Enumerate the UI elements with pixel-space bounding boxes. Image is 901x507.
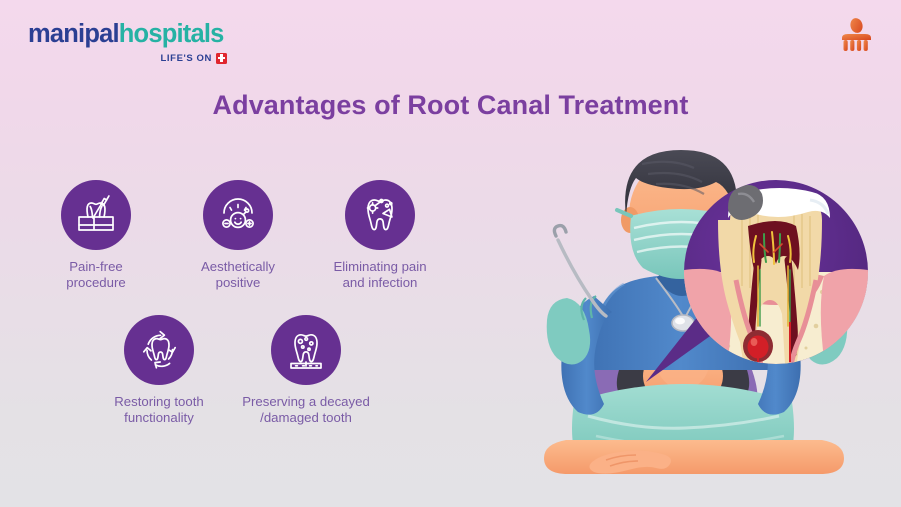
patient-arms bbox=[544, 440, 844, 474]
dentist-treating-patient-illustration bbox=[470, 120, 901, 480]
benefit-item-pain-free-procedure[interactable]: Pain-free procedure bbox=[20, 180, 172, 291]
benefit-item-aesthetically-positive[interactable]: Aesthetically positive bbox=[162, 180, 314, 291]
logo-word-manipal: manipal bbox=[28, 20, 119, 48]
decayed-tooth-on-base-icon bbox=[282, 326, 330, 374]
logo-word-hospitals: hospitals bbox=[119, 20, 224, 48]
logo-tagline-row: LIFE'S ON bbox=[28, 53, 228, 64]
tooth-with-anesthetic-needle-icon bbox=[72, 191, 120, 239]
satisfaction-gauge-smiley-icon bbox=[214, 191, 262, 239]
page-title: Advantages of Root Canal Treatment bbox=[0, 90, 901, 121]
benefit-label: Restoring tooth functionality bbox=[83, 394, 235, 426]
benefit-label: Preserving a decayed /damaged tooth bbox=[230, 394, 382, 426]
orange-figure-icon bbox=[835, 16, 877, 58]
logo-tagline: LIFE'S ON bbox=[161, 53, 212, 64]
manipal-hospitals-logo[interactable]: manipalhospitals LIFE'S ON bbox=[28, 22, 228, 64]
benefit-icon-circle bbox=[271, 315, 341, 385]
benefits-list: Pain-free procedure bbox=[20, 170, 470, 460]
benefit-label: Aesthetically positive bbox=[162, 259, 314, 291]
benefit-item-eliminating-pain-and-infection[interactable]: Eliminating pain and infection bbox=[304, 180, 456, 291]
logo-wordmark: manipalhospitals bbox=[28, 22, 228, 48]
benefit-label: Eliminating pain and infection bbox=[304, 259, 456, 291]
tooth-with-bacteria-icon bbox=[356, 191, 404, 239]
infographic-poster: manipalhospitals LIFE'S ON Advantages of… bbox=[0, 0, 901, 507]
medical-cross-icon bbox=[216, 53, 227, 64]
benefit-item-restoring-tooth-functionality[interactable]: Restoring tooth functionality bbox=[83, 315, 235, 426]
benefit-label: Pain-free procedure bbox=[20, 259, 172, 291]
benefit-icon-circle bbox=[345, 180, 415, 250]
benefit-item-preserving-decayed-damaged-tooth[interactable]: Preserving a decayed /damaged tooth bbox=[230, 315, 382, 426]
benefit-icon-circle bbox=[61, 180, 131, 250]
tooth-with-refresh-arrows-icon bbox=[135, 326, 183, 374]
benefit-icon-circle bbox=[203, 180, 273, 250]
benefit-icon-circle bbox=[124, 315, 194, 385]
